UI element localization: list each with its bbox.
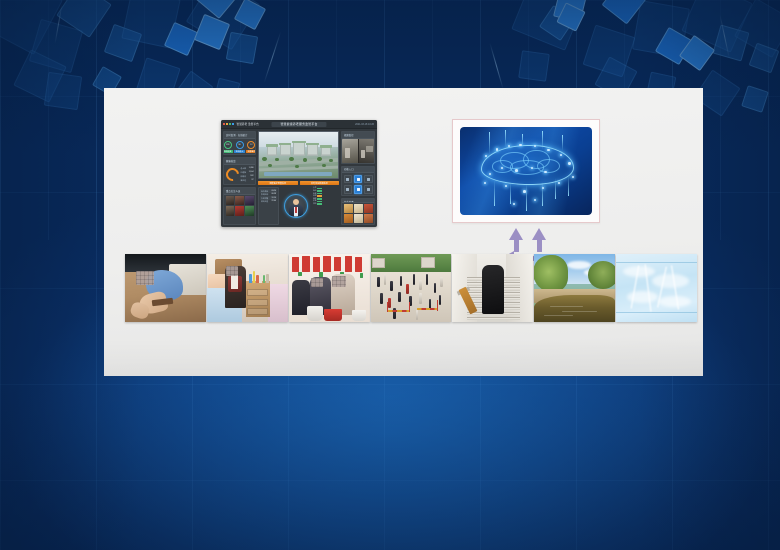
ai-brain-node	[513, 203, 515, 205]
photo-person	[390, 281, 393, 291]
photo-person	[419, 293, 422, 303]
photo-building	[421, 257, 436, 268]
photo-person-shirt	[231, 275, 237, 289]
function-icons-panel-title: 功能入口	[342, 167, 374, 174]
ai-brain-light-beam	[568, 176, 569, 195]
photo-bottles	[249, 270, 270, 282]
camera-object	[366, 146, 372, 152]
ai-brain-light-beam	[562, 135, 563, 151]
stat-label: 高风险	[241, 179, 247, 182]
list-item[interactable]	[534, 254, 615, 322]
ai-brain-light-beam	[494, 180, 495, 206]
user-icon[interactable]	[344, 175, 353, 184]
meal-thumbnail-grid	[342, 203, 374, 224]
list-item[interactable]	[125, 254, 206, 322]
meal-thumbnail[interactable]	[364, 204, 373, 213]
gauge-ring: 12	[247, 141, 255, 149]
list-item[interactable]	[371, 254, 452, 322]
ai-brain-node	[558, 182, 560, 184]
health-record-panel-title: 健康档案	[224, 158, 255, 165]
stat-label: 待随访	[241, 175, 247, 178]
gauges-panel: 实时监测 · 在线统计 128 在线设备 96 在线老人 12 告警事件	[223, 131, 256, 155]
camera-panel-title: 视频监控	[342, 132, 374, 139]
photo-water-glint	[550, 306, 582, 307]
meal-thumbnail[interactable]	[354, 214, 363, 223]
dashboard-title: 智慧健康养老服务监管平台	[271, 122, 326, 127]
ai-brain-light-beam	[510, 182, 511, 205]
dashboard-header: 智慧养老 监管平台 智慧健康养老服务监管平台 2021-03-18 10:26	[221, 120, 377, 129]
photo-bottle	[263, 275, 266, 282]
dashboard-right-column: 视频监控 功能入口	[341, 131, 375, 225]
ai-brain-node	[568, 162, 570, 164]
photo-person	[377, 277, 380, 287]
chart-icon[interactable]	[344, 185, 353, 194]
photo-bottle	[253, 271, 256, 282]
health-record-stats: 总人数1,286 已建档1,104 待随访182 高风险37	[241, 167, 254, 182]
avatar: 档案	[284, 194, 308, 218]
dashboard-left-column: 实时监测 · 在线统计 128 在线设备 96 在线老人 12 告警事件	[223, 131, 256, 225]
photo-decoration	[360, 273, 363, 278]
photo-barrier	[388, 310, 409, 312]
map-building	[267, 146, 277, 156]
arrow-up-to-ai-2	[532, 228, 546, 252]
photo-bottle	[259, 273, 262, 283]
person-thumbnail[interactable]	[235, 206, 244, 215]
status-bar	[317, 193, 322, 195]
photo-drawer	[247, 308, 268, 315]
person-thumbnail[interactable]	[235, 196, 244, 205]
ai-brain-illustration[interactable]	[452, 119, 600, 223]
stat-row: 高风险37	[241, 179, 254, 182]
photo-decoration	[313, 257, 320, 271]
gauge-row: 128 在线设备 96 在线老人 12 告警事件	[224, 139, 255, 155]
resident-profile[interactable]: 档案	[281, 187, 311, 225]
alert-banner[interactable]: 智能看护预警信息	[258, 181, 298, 185]
ai-brain-light-beam	[526, 183, 527, 211]
list-item[interactable]	[452, 254, 533, 322]
source-scene-photos	[125, 254, 697, 322]
gauge-label: 告警事件	[246, 150, 256, 154]
gauge-device[interactable]: 128 在线设备	[223, 141, 233, 154]
map-roof	[266, 144, 278, 146]
privacy-mosaic	[332, 276, 346, 287]
alert-banner[interactable]: 实时体征数据监测	[300, 181, 340, 185]
map-roof	[306, 143, 319, 145]
photo-person	[384, 274, 387, 284]
map-roof	[292, 141, 305, 143]
stat-value: 182	[250, 175, 253, 178]
list-item[interactable]	[616, 254, 697, 322]
vital-label: 呼吸	[313, 203, 316, 205]
photo-post	[409, 302, 410, 313]
health-record-content: 总人数1,286 已建档1,104 待随访182 高风险37	[224, 165, 255, 184]
vital-status-list: 心率 血压 血氧 体温 睡眠 步数 呼吸	[313, 187, 339, 225]
status-bar	[317, 198, 322, 200]
arrow-up-to-ai-1	[509, 228, 523, 252]
status-bar	[317, 195, 322, 197]
camera-panel: 视频监控	[341, 131, 375, 164]
stat-row: 已建档1,104	[241, 171, 254, 174]
photo-step	[467, 317, 520, 321]
camera-feed[interactable]	[342, 139, 374, 163]
person-thumbnail[interactable]	[245, 196, 254, 205]
ai-brain-node	[515, 169, 518, 172]
meal-thumbnail[interactable]	[344, 214, 353, 223]
photo-person	[400, 276, 403, 286]
photo-cloud	[567, 261, 591, 269]
photo-water-glint	[562, 311, 598, 312]
arrow-head	[532, 228, 546, 240]
photo-person	[406, 284, 409, 294]
photo-red-bowl	[324, 309, 342, 321]
donut-chart	[223, 165, 241, 183]
ai-brain-node	[501, 167, 503, 169]
ai-brain-node	[496, 148, 498, 150]
watchlist-panel-title: 重点关注人员	[224, 188, 255, 195]
photo-decoration	[345, 256, 352, 272]
photo-decoration	[292, 257, 299, 272]
photo-tree	[588, 261, 615, 290]
campus-3d-map[interactable]	[258, 131, 339, 179]
ai-brain-node	[505, 185, 507, 187]
health-record-panel: 健康档案 总人数1,286 已建档1,104 待随访182 高风险37	[223, 157, 256, 185]
photo-decoration	[334, 257, 341, 271]
photo-person	[439, 295, 442, 305]
dashboard-logo: 智慧养老 监管平台	[223, 122, 259, 126]
person-thumbnail[interactable]	[226, 206, 235, 215]
photo-basin	[307, 306, 323, 321]
photo-decoration	[355, 257, 362, 271]
photo-decoration	[323, 256, 330, 272]
arrow-head	[509, 228, 523, 240]
photo-post	[437, 300, 438, 311]
gauge-alarm[interactable]: 12 告警事件	[246, 141, 256, 154]
photo-wisp	[658, 296, 690, 307]
row-label: 夜间巡查	[261, 200, 268, 203]
ai-brain-node	[484, 182, 486, 184]
gauge-label: 在线设备	[223, 150, 233, 154]
avatar-caption: 档案	[294, 215, 298, 218]
privacy-mosaic	[136, 271, 154, 285]
status-bar	[317, 190, 322, 192]
row-value: 22:40	[272, 200, 277, 203]
shield-icon[interactable]	[354, 185, 363, 194]
photo-horizontal-line	[616, 262, 697, 263]
map-building	[307, 144, 318, 156]
person-thumbnail[interactable]	[245, 206, 254, 215]
photo-person	[419, 280, 422, 290]
stat-row: 待随访182	[241, 175, 254, 178]
stat-label: 总人数	[241, 167, 247, 170]
privacy-mosaic	[226, 266, 238, 276]
camera-object	[345, 148, 351, 158]
photo-building	[372, 258, 385, 268]
privacy-mosaic	[311, 278, 322, 287]
gauge-ring: 128	[224, 141, 232, 149]
alert-banner-row: 智能看护预警信息 实时体征数据监测	[258, 181, 339, 185]
photo-bed-right	[268, 284, 287, 322]
gauges-panel-title: 实时监测 · 在线统计	[224, 132, 255, 139]
list-item[interactable]	[207, 254, 288, 322]
dashboard-clock: 2021-03-18 10:26	[355, 123, 374, 126]
photo-person	[398, 292, 401, 302]
gauge-resident[interactable]: 96 在线老人	[234, 141, 244, 154]
dashboard-body: 实时监测 · 在线统计 128 在线设备 96 在线老人 12 告警事件	[221, 129, 377, 227]
stat-row: 总人数1,286	[241, 167, 254, 170]
function-icons-panel: 功能入口	[341, 166, 375, 196]
ai-brain-light-beam	[505, 130, 506, 148]
dashboard-middle-row: 床位离床03:24 跌倒检测00:58 久坐提醒12:10 夜间巡查22:40 …	[258, 187, 339, 225]
photo-white-bowl	[352, 310, 367, 322]
photo-person	[434, 283, 437, 293]
photo-person-body	[482, 265, 505, 314]
vital-row: 呼吸	[313, 203, 339, 205]
photo-water	[534, 295, 615, 322]
photo-person	[440, 277, 443, 287]
photo-bottle	[256, 275, 259, 283]
map-building	[293, 142, 305, 156]
dashboard-logo-text: 智慧养老 监管平台	[237, 122, 259, 126]
camera-object	[361, 150, 365, 158]
bell-icon[interactable]	[364, 175, 373, 184]
status-bar	[317, 201, 322, 203]
watchlist-panel: 重点关注人员	[223, 187, 256, 225]
gauge-ring: 96	[236, 141, 244, 149]
map-roof	[279, 143, 292, 145]
ai-brain-image	[460, 127, 592, 215]
photo-decoration	[298, 272, 301, 277]
ai-brain-node	[489, 173, 491, 175]
photo-drawer	[247, 299, 268, 306]
table-row: 夜间巡查22:40	[260, 200, 277, 204]
map-roof	[320, 145, 332, 147]
smart-care-monitoring-dashboard[interactable]: 智慧养老 监管平台 智慧健康养老服务监管平台 2021-03-18 10:26 …	[221, 120, 377, 227]
ai-brain-light-beam	[489, 132, 490, 155]
meals-panel: 营养膳食	[341, 198, 375, 225]
map-water	[264, 172, 332, 176]
ai-brain-light-beam	[555, 178, 556, 199]
stat-label: 已建档	[241, 171, 247, 174]
photo-person	[388, 298, 391, 308]
map-tree	[262, 157, 267, 161]
function-icon-grid	[342, 173, 374, 195]
photo-bottle	[249, 274, 252, 283]
status-bar	[317, 203, 322, 205]
photo-post	[387, 302, 388, 313]
dashboard-center-column: 智能看护预警信息 实时体征数据监测 床位离床03:24 跌倒检测00:58 久坐…	[258, 131, 339, 225]
photo-bottle	[266, 274, 269, 283]
ai-brain-light-beam	[542, 182, 543, 207]
stat-value: 37	[251, 179, 253, 182]
slide-content-panel: 智慧养老 监管平台 智慧健康养老服务监管平台 2021-03-18 10:26 …	[104, 88, 703, 376]
photo-person	[413, 274, 416, 284]
photo-person	[426, 274, 429, 284]
photo-horizontal-line	[616, 312, 697, 313]
status-bar	[317, 188, 322, 190]
watchlist-thumbnail-grid	[224, 195, 255, 218]
stat-value: 1,286	[249, 167, 254, 170]
person-thumbnail[interactable]	[226, 196, 235, 205]
photo-person	[380, 293, 383, 303]
ai-brain-fold	[537, 159, 561, 173]
monitor-icon[interactable]	[354, 175, 363, 184]
meal-thumbnail[interactable]	[364, 214, 373, 223]
map-building	[321, 147, 331, 156]
stat-value: 1,104	[249, 171, 254, 174]
photo-drawer	[247, 289, 268, 296]
map-building	[280, 144, 291, 156]
alert-table: 床位离床03:24 跌倒检测00:58 久坐提醒12:10 夜间巡查22:40	[258, 187, 279, 225]
meal-thumbnail[interactable]	[354, 204, 363, 213]
photo-tree	[534, 255, 568, 292]
meal-thumbnail[interactable]	[344, 204, 353, 213]
gauge-label: 在线老人	[234, 150, 244, 154]
photo-decoration	[302, 256, 309, 272]
photo-wisp	[652, 274, 689, 288]
avatar-tie	[295, 207, 296, 213]
list-item[interactable]	[289, 254, 370, 322]
gear-icon[interactable]	[364, 185, 373, 194]
